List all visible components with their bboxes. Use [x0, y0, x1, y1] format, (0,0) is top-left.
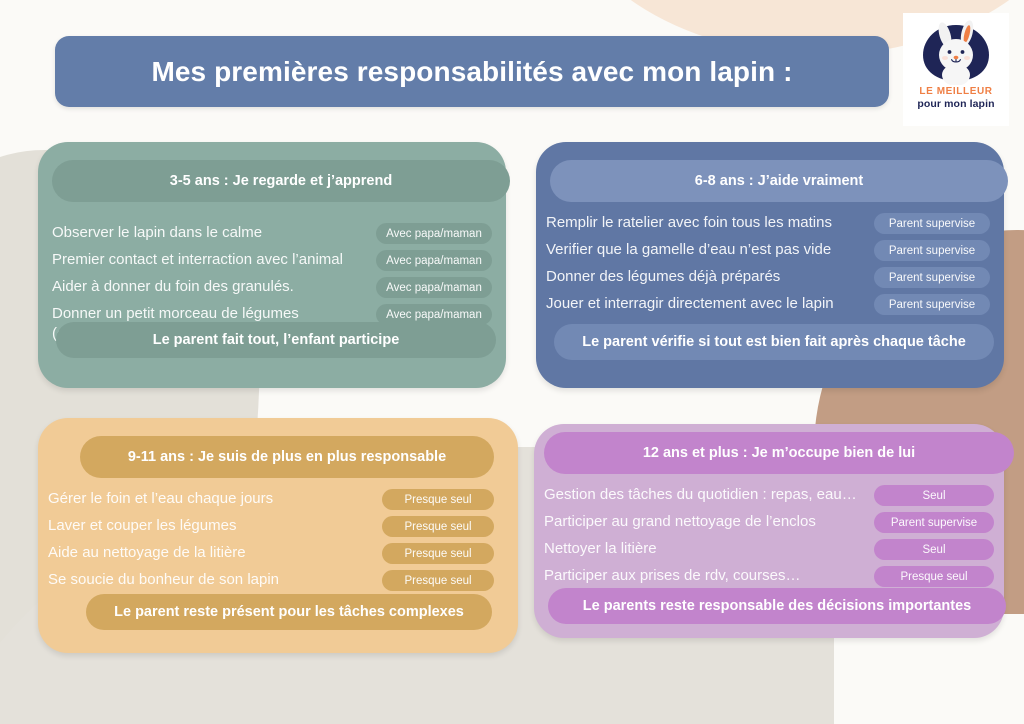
- task-row[interactable]: Aide au nettoyage de la litière Presque …: [48, 540, 494, 567]
- task-row[interactable]: Observer le lapin dans le calme Avec pap…: [52, 220, 492, 247]
- task-row[interactable]: Gérer le foin et l’eau chaque jours Pres…: [48, 486, 494, 513]
- logo-tagline-secondary: pour mon lapin: [917, 98, 994, 110]
- card-heading-label: 3-5 ans : Je regarde et j’apprend: [170, 173, 392, 189]
- card-footer-label: Le parent vérifie si tout est bien fait …: [582, 334, 966, 350]
- task-label: Gestion des tâches du quotidien : repas,…: [544, 482, 874, 505]
- logo-tagline-primary: LE MEILLEUR: [919, 86, 992, 97]
- task-badge: Presque seul: [382, 516, 494, 537]
- page-title: Mes premières responsabilités avec mon l…: [151, 56, 792, 88]
- task-label: Jouer et interragir directement avec le …: [546, 291, 874, 314]
- age-card-12-plus[interactable]: 12 ans et plus : Je m’occupe bien de lui…: [534, 424, 1004, 638]
- task-label: Premier contact et interraction avec l’a…: [52, 247, 376, 270]
- task-row[interactable]: Remplir le ratelier avec foin tous les m…: [546, 210, 990, 237]
- task-label: Participer aux prises de rdv, courses…: [544, 563, 874, 586]
- task-badge: Presque seul: [382, 570, 494, 591]
- task-badge: Presque seul: [382, 489, 494, 510]
- task-row[interactable]: Verifier que la gamelle d’eau n’est pas …: [546, 237, 990, 264]
- card-footer-label: Le parent reste présent pour les tâches …: [114, 604, 464, 620]
- task-row[interactable]: Aider à donner du foin des granulés. Ave…: [52, 274, 492, 301]
- task-label: Remplir le ratelier avec foin tous les m…: [546, 210, 874, 233]
- card-footer-pill: Le parent vérifie si tout est bien fait …: [554, 324, 994, 360]
- task-label: Aide au nettoyage de la litière: [48, 540, 382, 563]
- card-heading-pill: 6-8 ans : J’aide vraiment: [550, 160, 1008, 202]
- card-footer-pill: Le parent reste présent pour les tâches …: [86, 594, 492, 630]
- card-footer-pill: Le parents reste responsable des décisio…: [548, 588, 1006, 624]
- page-title-banner: Mes premières responsabilités avec mon l…: [55, 36, 889, 107]
- task-badge: Parent supervise: [874, 240, 990, 261]
- rabbit-logo-icon: [917, 19, 995, 85]
- task-list: Remplir le ratelier avec foin tous les m…: [546, 210, 990, 318]
- age-card-3-5[interactable]: 3-5 ans : Je regarde et j’apprend Observ…: [38, 142, 506, 388]
- task-row[interactable]: Donner des légumes déjà préparés Parent …: [546, 264, 990, 291]
- task-row[interactable]: Nettoyer la litière Seul: [544, 536, 994, 563]
- task-badge: Parent supervise: [874, 213, 990, 234]
- task-label: Observer le lapin dans le calme: [52, 220, 376, 243]
- task-label: Gérer le foin et l’eau chaque jours: [48, 486, 382, 509]
- task-badge: Avec papa/maman: [376, 277, 492, 298]
- infographic-page: Mes premières responsabilités avec mon l…: [0, 0, 1024, 724]
- task-row[interactable]: Jouer et interragir directement avec le …: [546, 291, 990, 318]
- card-heading-label: 9-11 ans : Je suis de plus en plus respo…: [128, 449, 446, 465]
- task-label: Laver et couper les légumes: [48, 513, 382, 536]
- task-row[interactable]: Participer aux prises de rdv, courses… P…: [544, 563, 994, 590]
- task-row[interactable]: Se soucie du bonheur de son lapin Presqu…: [48, 567, 494, 594]
- task-label: Verifier que la gamelle d’eau n’est pas …: [546, 237, 874, 260]
- task-badge: Parent supervise: [874, 512, 994, 533]
- card-heading-pill: 9-11 ans : Je suis de plus en plus respo…: [80, 436, 494, 478]
- task-row[interactable]: Gestion des tâches du quotidien : repas,…: [544, 482, 994, 509]
- task-badge: Presque seul: [874, 566, 994, 587]
- task-label: Se soucie du bonheur de son lapin: [48, 567, 382, 590]
- task-row[interactable]: Participer au grand nettoyage de l’enclo…: [544, 509, 994, 536]
- card-heading-label: 12 ans et plus : Je m’occupe bien de lui: [643, 445, 915, 461]
- card-heading-label: 6-8 ans : J’aide vraiment: [695, 173, 863, 189]
- task-label: Nettoyer la litière: [544, 536, 874, 559]
- task-badge: Presque seul: [382, 543, 494, 564]
- brand-logo: LE MEILLEUR pour mon lapin: [903, 13, 1009, 126]
- task-row[interactable]: Laver et couper les légumes Presque seul: [48, 513, 494, 540]
- task-badge: Parent supervise: [874, 267, 990, 288]
- card-footer-pill: Le parent fait tout, l’enfant participe: [56, 322, 496, 358]
- task-badge: Seul: [874, 539, 994, 560]
- task-badge: Avec papa/maman: [376, 250, 492, 271]
- task-badge: Parent supervise: [874, 294, 990, 315]
- card-footer-label: Le parents reste responsable des décisio…: [583, 598, 971, 614]
- task-badge: Avec papa/maman: [376, 223, 492, 244]
- task-badge: Seul: [874, 485, 994, 506]
- age-card-9-11[interactable]: 9-11 ans : Je suis de plus en plus respo…: [38, 418, 518, 653]
- card-footer-label: Le parent fait tout, l’enfant participe: [153, 332, 400, 348]
- task-label: Aider à donner du foin des granulés.: [52, 274, 376, 297]
- task-list: Gestion des tâches du quotidien : repas,…: [544, 482, 994, 590]
- card-heading-pill: 12 ans et plus : Je m’occupe bien de lui: [544, 432, 1014, 474]
- task-list: Gérer le foin et l’eau chaque jours Pres…: [48, 486, 494, 594]
- task-label: Donner des légumes déjà préparés: [546, 264, 874, 287]
- card-heading-pill: 3-5 ans : Je regarde et j’apprend: [52, 160, 510, 202]
- task-label: Participer au grand nettoyage de l’enclo…: [544, 509, 874, 532]
- age-card-6-8[interactable]: 6-8 ans : J’aide vraiment Remplir le rat…: [536, 142, 1004, 388]
- task-row[interactable]: Premier contact et interraction avec l’a…: [52, 247, 492, 274]
